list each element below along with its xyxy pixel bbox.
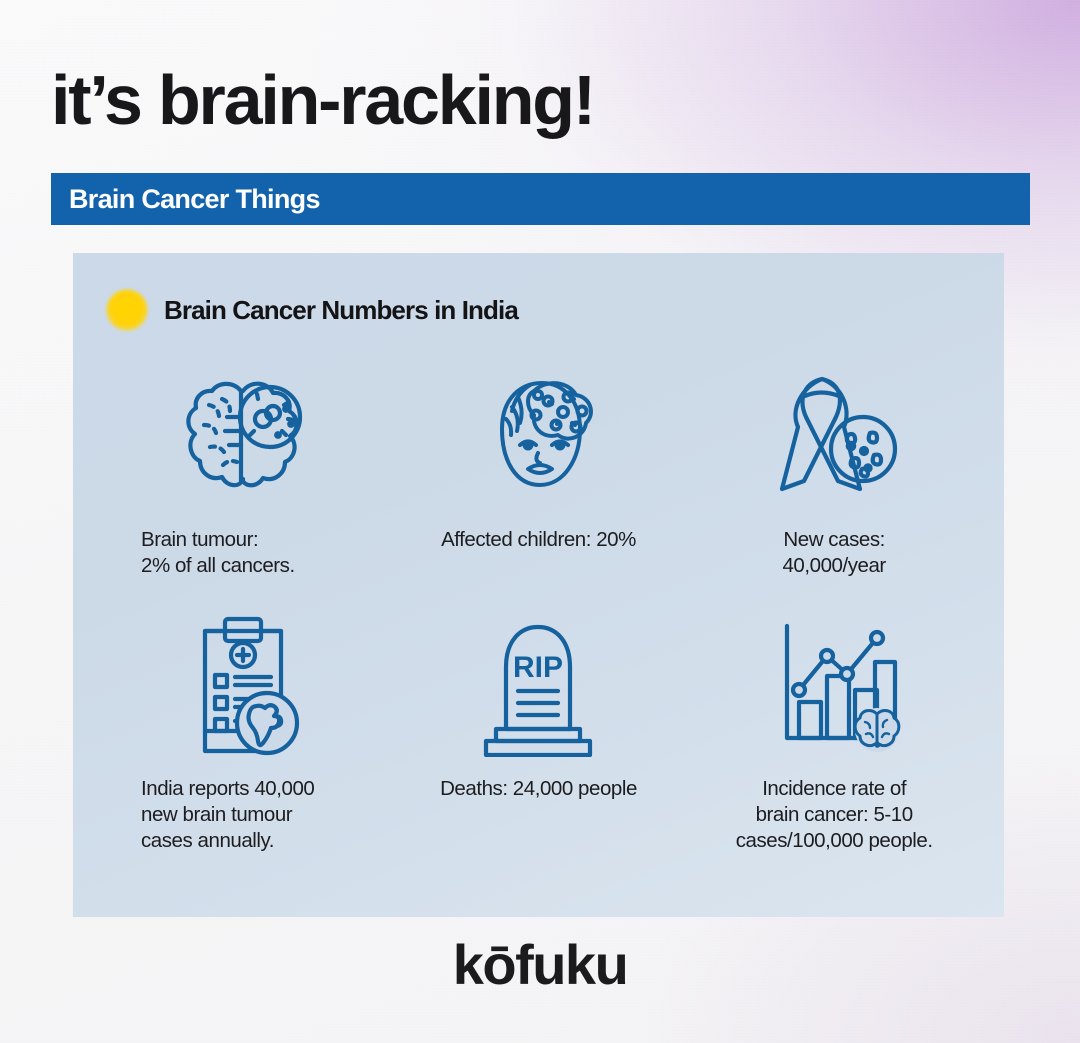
stat-caption: New cases: 40,000/year — [782, 527, 885, 579]
yellow-dot-icon — [106, 289, 148, 331]
tombstone-rip-icon: RIP — [472, 606, 604, 766]
brain-tumour-icon — [178, 361, 308, 513]
stats-grid: Brain tumour: 2% of all cancers. — [95, 361, 982, 866]
card-heading: Brain Cancer Numbers in India — [106, 289, 518, 331]
stat-caption: Brain tumour: 2% of all cancers. — [141, 527, 295, 579]
content-card: Brain Cancer Numbers in India — [73, 253, 1004, 917]
clipboard-india-map-icon — [175, 606, 311, 766]
brand-logo: kōfuku — [0, 932, 1080, 997]
stat-caption: Affected children: 20% — [441, 527, 636, 553]
child-head-tumour-icon — [472, 361, 604, 513]
stat-item: Affected children: 20% — [391, 361, 687, 606]
bar-chart-brain-icon — [765, 606, 903, 766]
stat-caption: India reports 40,000 new brain tumour ca… — [141, 776, 314, 854]
awareness-ribbon-cell-icon — [764, 361, 904, 513]
tombstone-rip-text: RIP — [513, 651, 563, 684]
stat-item: Incidence rate of brain cancer: 5-10 cas… — [686, 606, 982, 866]
stat-item: India reports 40,000 new brain tumour ca… — [95, 606, 391, 866]
stat-item: New cases: 40,000/year — [686, 361, 982, 606]
infographic-stage: it’s brain-racking! Brain Cancer Things … — [0, 0, 1080, 1043]
stat-item: Brain tumour: 2% of all cancers. — [95, 361, 391, 606]
card-heading-text: Brain Cancer Numbers in India — [164, 295, 518, 326]
stat-item: RIP Deaths: 24,000 people — [391, 606, 687, 866]
section-header-bar: Brain Cancer Things — [51, 173, 1030, 225]
stat-caption: Deaths: 24,000 people — [440, 776, 637, 802]
section-header-title: Brain Cancer Things — [51, 184, 320, 215]
page-title: it’s brain-racking! — [51, 58, 594, 142]
stat-caption: Incidence rate of brain cancer: 5-10 cas… — [736, 776, 933, 854]
